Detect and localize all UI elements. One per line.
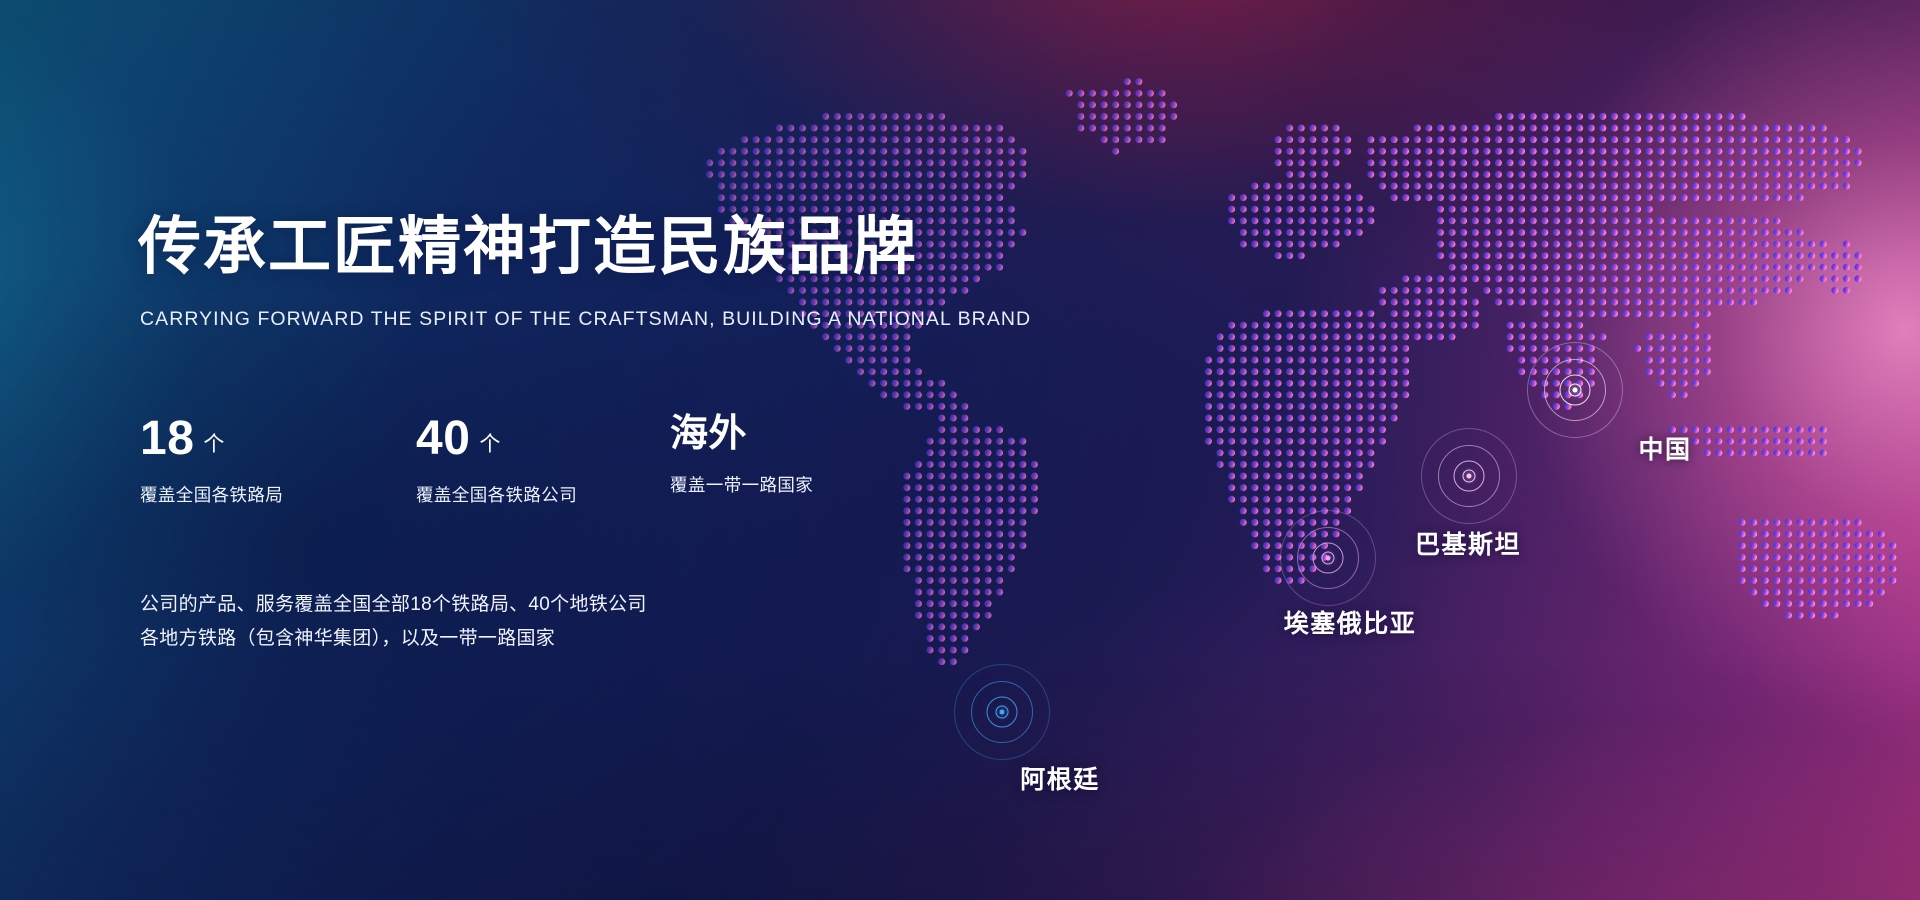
description-line-1: 公司的产品、服务覆盖全国全部18个铁路局、40个地铁公司 — [140, 588, 647, 622]
stat-item-railway-companies: 40 个 覆盖全国各铁路公司 — [416, 415, 577, 507]
map-marker-label-3: 阿根廷 — [1020, 760, 1100, 796]
stat-headline: 18 个 — [140, 415, 283, 463]
marker-center-dot-icon — [1326, 556, 1331, 561]
description-paragraph: 公司的产品、服务覆盖全国全部18个铁路局、40个地铁公司 各地方铁路（包含神华集… — [140, 588, 647, 656]
marker-center-dot-icon — [1467, 474, 1472, 479]
map-marker-label-1: 巴基斯坦 — [1415, 525, 1521, 561]
stat-label: 覆盖全国各铁路公司 — [416, 482, 577, 507]
stat-item-railway-bureaus: 18 个 覆盖全国各铁路局 — [140, 415, 283, 507]
stat-value: 18 — [140, 415, 194, 463]
stat-item-overseas: 海外 覆盖一带一路国家 — [670, 415, 813, 497]
marker-center-dot-icon — [1573, 388, 1578, 393]
stat-unit: 个 — [203, 428, 224, 458]
stat-value: 海外 — [670, 415, 747, 453]
text-content-column: 传承工匠精神打造民族品牌 CARRYING FORWARD THE SPIRIT… — [138, 0, 958, 900]
stat-headline: 40 个 — [416, 415, 577, 463]
map-marker-label-2: 埃塞俄比亚 — [1284, 604, 1417, 640]
stat-label: 覆盖全国各铁路局 — [140, 482, 283, 507]
map-marker-label-0: 中国 — [1638, 430, 1691, 466]
page-title: 传承工匠精神打造民族品牌 — [138, 196, 918, 287]
page-subtitle: CARRYING FORWARD THE SPIRIT OF THE CRAFT… — [140, 308, 1031, 331]
stat-headline: 海外 — [670, 415, 813, 453]
description-line-2: 各地方铁路（包含神华集团），以及一带一路国家 — [140, 622, 647, 656]
stat-value: 40 — [416, 415, 470, 463]
marker-center-dot-icon — [1000, 710, 1005, 715]
stat-label: 覆盖一带一路国家 — [670, 472, 813, 497]
statistics-row: 18 个 覆盖全国各铁路局 40 个 覆盖全国各铁路公司 海外 覆盖一带一路国家 — [140, 415, 940, 530]
stat-unit: 个 — [479, 428, 500, 458]
brand-banner: 传承工匠精神打造民族品牌 CARRYING FORWARD THE SPIRIT… — [0, 0, 1920, 900]
